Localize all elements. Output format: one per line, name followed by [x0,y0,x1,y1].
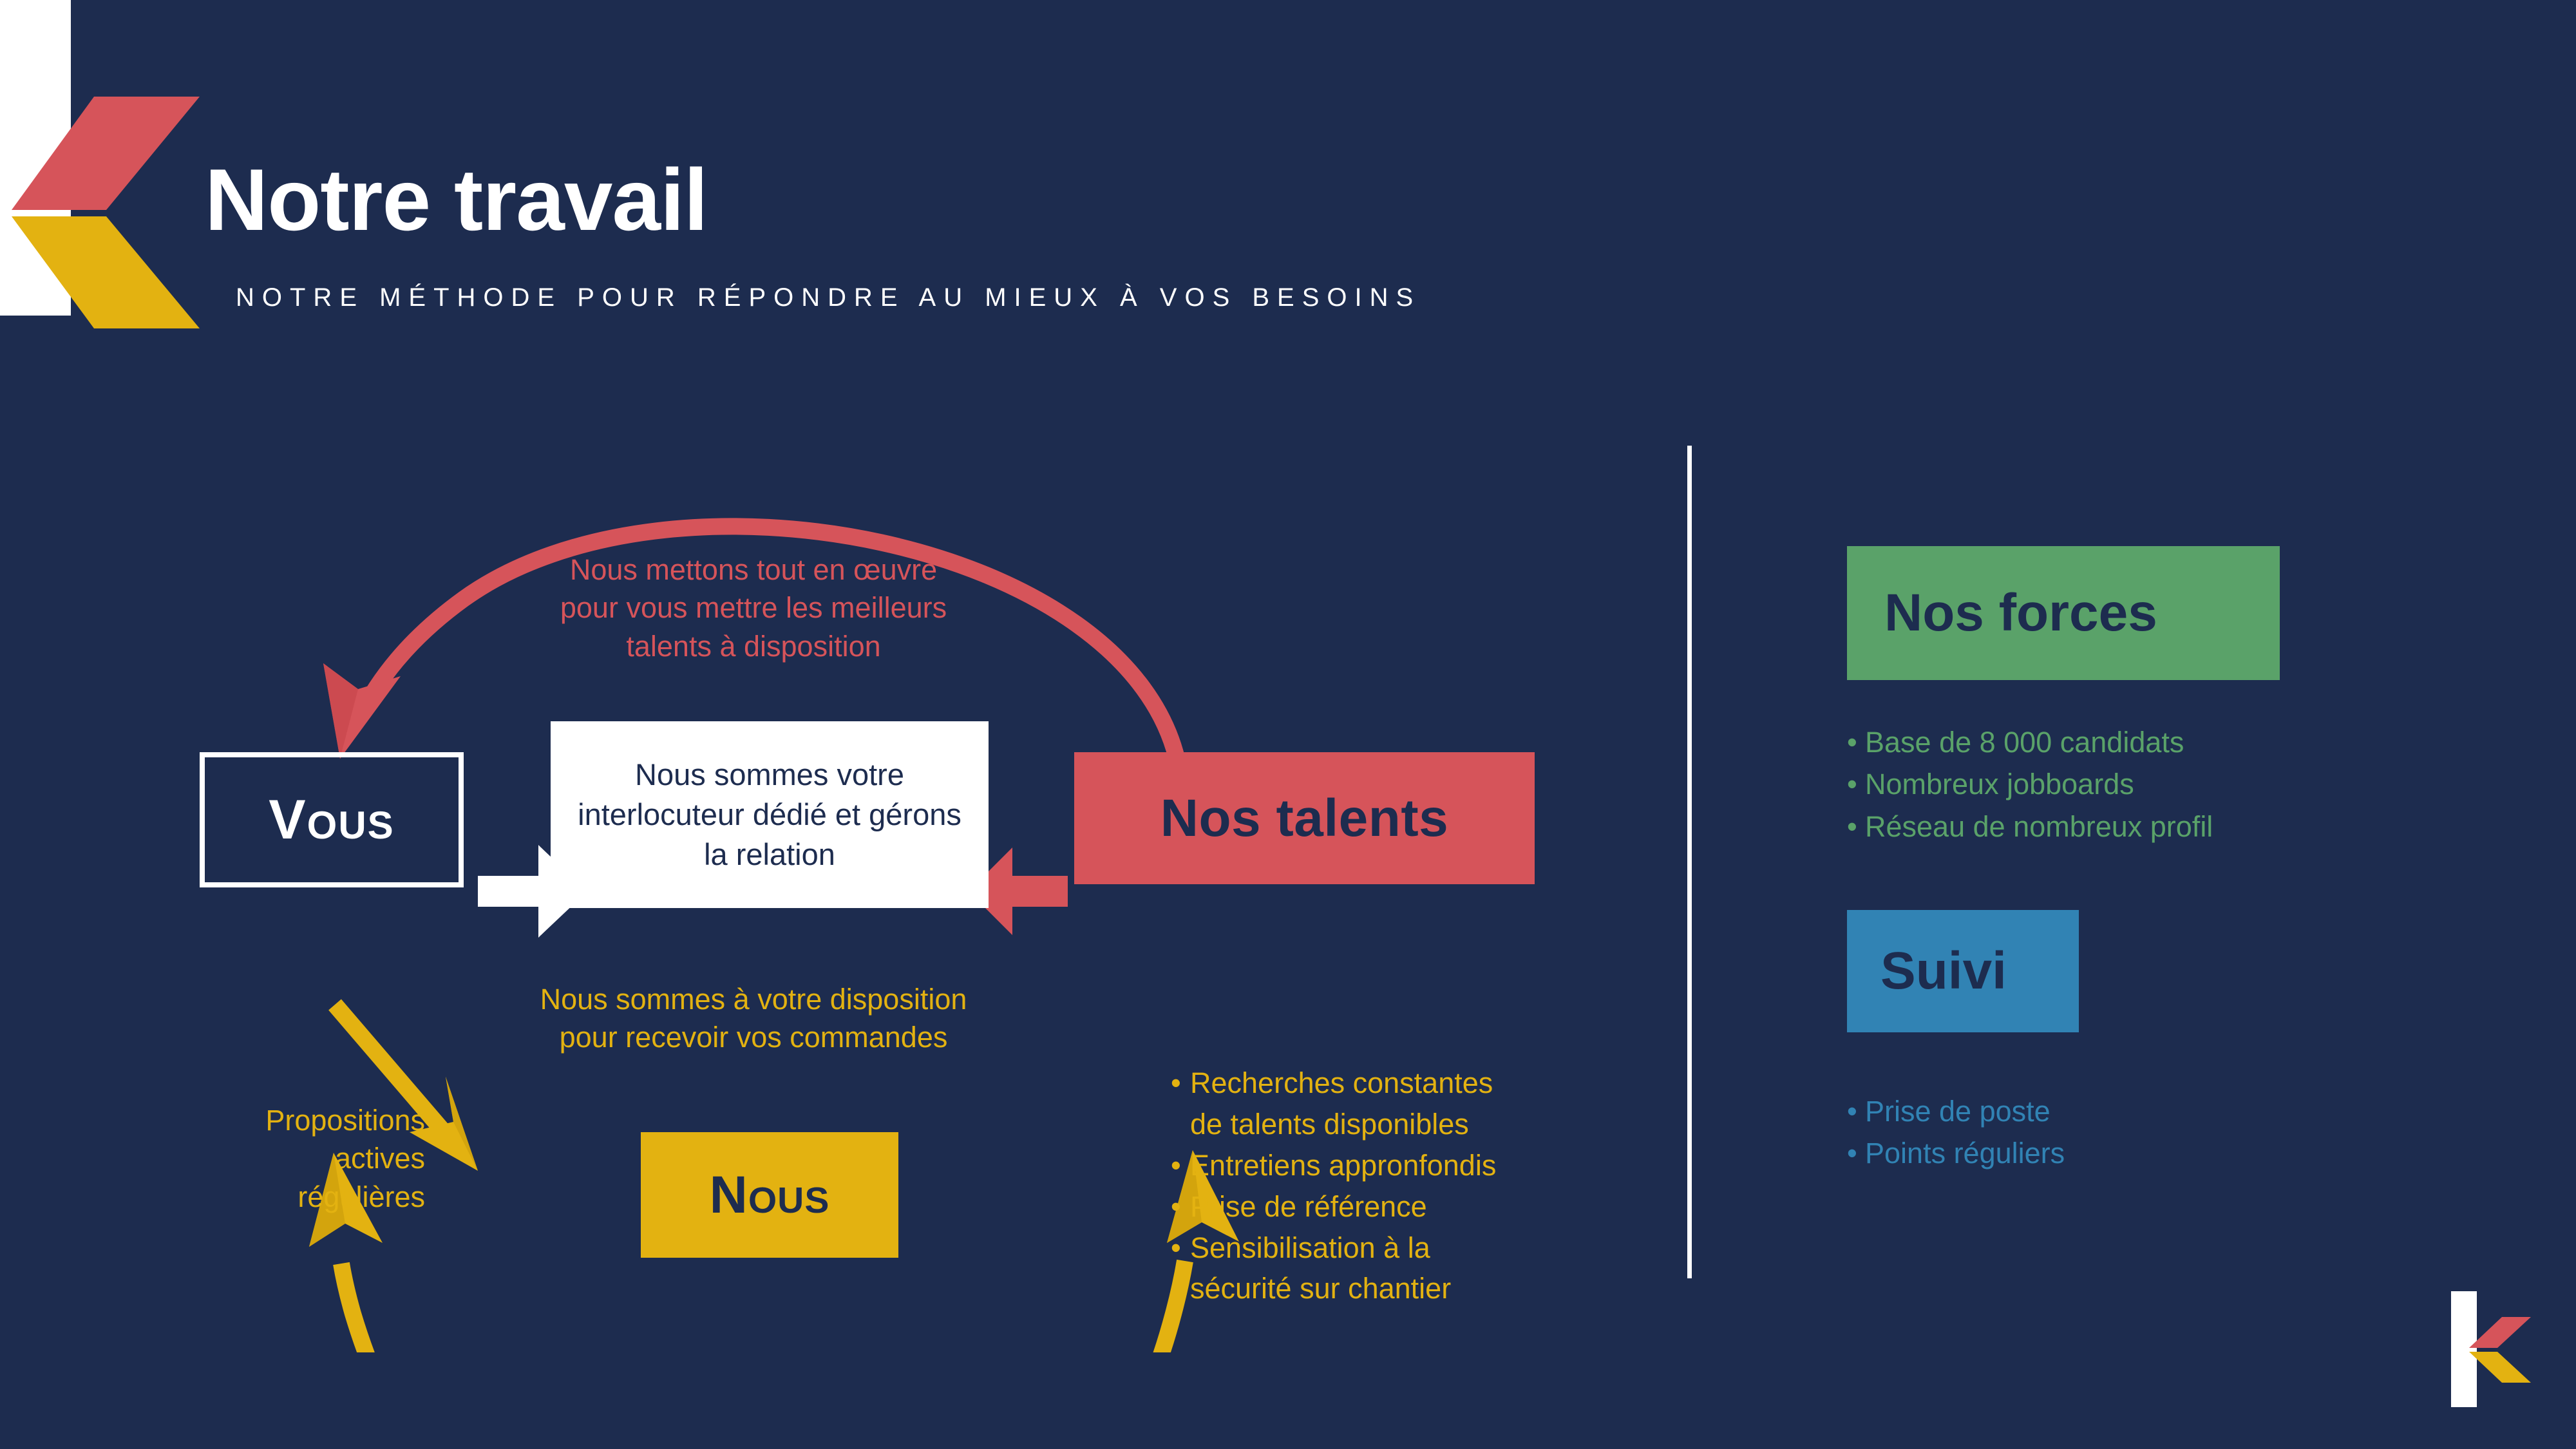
diagram-box-nos-talents[interactable]: Nos talents [1074,752,1535,884]
talents-bullet-item: •Sensibilisation à la sécurité sur chant… [1171,1227,1583,1310]
suivi-bullet-item-label: Prise de poste [1865,1090,2050,1132]
suivi-bullet-item-label: Points réguliers [1865,1132,2065,1174]
talents-bullet-item-label: Sensibilisation à la sécurité sur chanti… [1190,1227,1451,1310]
k-chevron-logo-icon [0,97,219,328]
forces-bullet-item-label: Base de 8 000 candidats [1865,721,2184,763]
talents-bullet-item: •Entretiens appronfondis [1171,1145,1583,1186]
suivi-bullet-item: •Points réguliers [1847,1132,2311,1174]
forces-bullet-item: •Réseau de nombreux profil [1847,806,2311,848]
bullet-dot-icon: • [1171,1063,1190,1104]
diagram-box-vous[interactable]: Vous [200,752,464,887]
bullet-dot-icon: • [1171,1145,1190,1186]
talents-bullet-item: •Recherches constantes de talents dispon… [1171,1063,1583,1145]
page-title: Notre travail [205,156,708,243]
diagram-box-center[interactable]: Nous sommes votre interlocuteur dédié et… [551,721,989,908]
panel-header-suivi: Suivi [1847,910,2079,1032]
bullet-dot-icon: • [1847,763,1865,805]
forces-bullet-item-label: Réseau de nombreux profil [1865,806,2213,848]
talents-bullet-item-label: Entretiens appronfondis [1190,1145,1496,1186]
page-subtitle: NOTRE MÉTHODE POUR RÉPONDRE AU MIEUX À V… [236,283,1421,312]
talents-bullet-item-label: Prise de référence [1190,1186,1427,1227]
k-mark-logo-icon [2441,1288,2557,1410]
talents-bullet-item: •Prise de référence [1171,1186,1583,1227]
talents-bullet-item-label: Recherches constantes de talents disponi… [1190,1063,1493,1145]
suivi-bullet-list: •Prise de poste•Points réguliers [1847,1090,2311,1175]
suivi-bullet-item: •Prise de poste [1847,1090,2311,1132]
forces-bullet-item: •Base de 8 000 candidats [1847,721,2311,763]
slide-canvas: Notre travail NOTRE MÉTHODE POUR RÉPONDR… [0,0,2576,1449]
forces-bullet-item-label: Nombreux jobboards [1865,763,2134,805]
bullet-dot-icon: • [1847,721,1865,763]
panel-header-nos-forces: Nos forces [1847,546,2280,680]
forces-bullet-item: •Nombreux jobboards [1847,763,2311,805]
diagram-label-gold-middle: Nous sommes à votre disposition pour rec… [489,980,1018,1057]
bullet-dot-icon: • [1847,1090,1865,1132]
talents-bullet-list: •Recherches constantes de talents dispon… [1171,1063,1583,1309]
vertical-divider [1687,446,1692,1278]
bullet-dot-icon: • [1171,1227,1190,1269]
diagram-box-nous[interactable]: Nous [641,1132,898,1258]
diagram-label-gold-left: Propositions actives régulières [180,1101,425,1216]
nos-forces-bullet-list: •Base de 8 000 candidats•Nombreux jobboa… [1847,721,2311,848]
diagram-label-red-top: Nous mettons tout en œuvre pour vous met… [489,551,1018,665]
bullet-dot-icon: • [1171,1186,1190,1227]
bullet-dot-icon: • [1847,1132,1865,1174]
bullet-dot-icon: • [1847,806,1865,848]
